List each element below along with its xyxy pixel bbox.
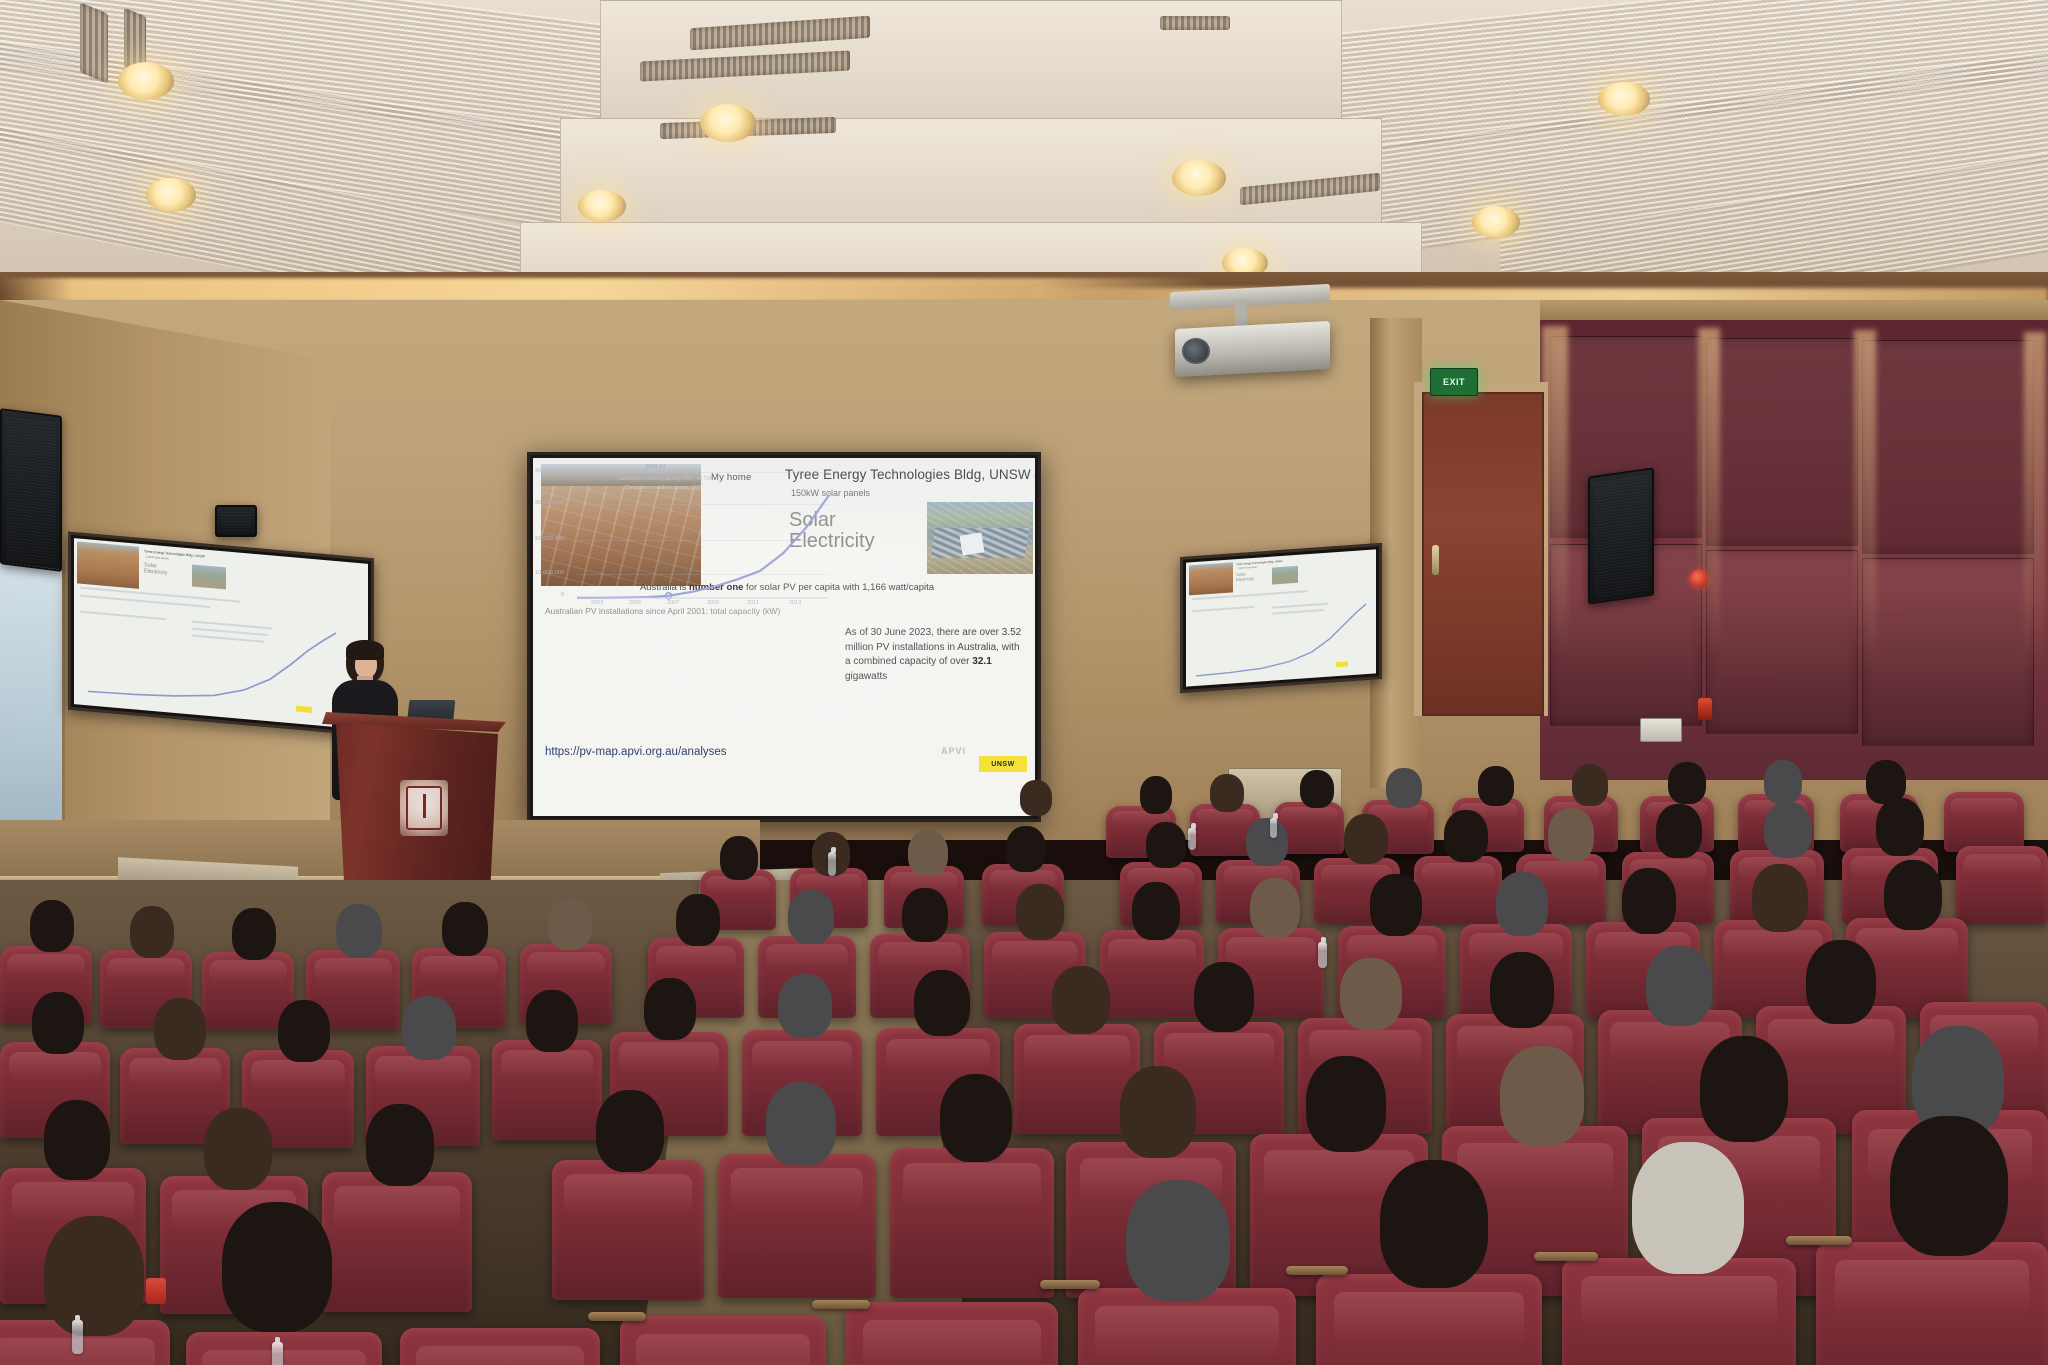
wood-panel bbox=[1862, 340, 2034, 554]
audience-person bbox=[336, 904, 382, 958]
seat[interactable] bbox=[492, 1040, 602, 1140]
seat[interactable] bbox=[552, 1160, 704, 1300]
audience-person bbox=[1016, 884, 1064, 940]
ceiling-vent bbox=[80, 2, 108, 83]
seat-armrest bbox=[1786, 1236, 1852, 1245]
seat[interactable] bbox=[1100, 930, 1204, 1018]
wall-light-glow bbox=[1854, 330, 1876, 670]
audience-person bbox=[914, 970, 970, 1036]
projector-lens-icon bbox=[1182, 338, 1210, 364]
audience-person bbox=[1700, 1036, 1788, 1142]
monitor-unsw-logo bbox=[296, 706, 312, 713]
ceiling-downlight bbox=[146, 178, 196, 212]
audience-person bbox=[32, 992, 84, 1054]
audience-person bbox=[1006, 826, 1046, 872]
apvi-logo: APVI bbox=[941, 746, 966, 756]
wall-light-glow bbox=[2024, 332, 2046, 672]
fire-alarm-light bbox=[1690, 570, 1708, 588]
water-bottle[interactable] bbox=[1188, 828, 1196, 850]
seat[interactable] bbox=[186, 1332, 382, 1365]
audience-person bbox=[1250, 878, 1300, 938]
x-tick-label: 2007 bbox=[667, 600, 679, 606]
seat[interactable] bbox=[322, 1172, 472, 1312]
exit-door[interactable] bbox=[1422, 392, 1544, 716]
audience-person bbox=[1572, 764, 1608, 806]
ceiling-downlight bbox=[1598, 82, 1650, 116]
audience-person bbox=[908, 830, 948, 876]
audience-person bbox=[1194, 962, 1254, 1032]
audience-person bbox=[1478, 766, 1514, 806]
audience-person bbox=[1806, 940, 1876, 1024]
audience-person bbox=[1884, 860, 1942, 930]
x-tick-label: 2003 bbox=[591, 600, 603, 606]
pv-installations-paragraph: As of 30 June 2023, there are over 3.52 … bbox=[845, 626, 1023, 684]
source-url[interactable]: https://pv-map.apvi.org.au/analyses bbox=[545, 746, 727, 758]
seat[interactable] bbox=[620, 1316, 826, 1365]
presenter-hair bbox=[346, 640, 384, 660]
water-bottle[interactable] bbox=[828, 852, 836, 876]
audience-person bbox=[778, 974, 832, 1038]
ceiling-camera bbox=[215, 505, 257, 537]
audience-person bbox=[44, 1100, 110, 1180]
wall-speaker-right bbox=[1588, 467, 1654, 604]
audience-person bbox=[596, 1090, 664, 1172]
audience-person bbox=[154, 998, 206, 1060]
audience-person bbox=[1496, 872, 1548, 936]
audience-person bbox=[1344, 814, 1388, 864]
audience-person bbox=[1020, 780, 1052, 816]
seat[interactable] bbox=[1944, 792, 2024, 852]
paragraph-post: gigawatts bbox=[845, 671, 887, 682]
ceiling-downlight bbox=[1472, 206, 1520, 238]
wood-panel bbox=[1706, 550, 1858, 734]
audience-person bbox=[1890, 1116, 2008, 1256]
seat[interactable] bbox=[1816, 1242, 2048, 1365]
seat[interactable] bbox=[718, 1154, 876, 1298]
audience-person bbox=[1126, 1180, 1230, 1302]
seat-armrest bbox=[1040, 1280, 1100, 1289]
seat[interactable] bbox=[1414, 856, 1502, 924]
monitor-right-slide: Tyree Energy Technologies Bldg, UNSW 150… bbox=[1186, 549, 1376, 686]
audience-person bbox=[1500, 1046, 1584, 1146]
audience-person bbox=[1632, 1142, 1744, 1274]
water-bottle[interactable] bbox=[1318, 942, 1327, 968]
exit-sign-label: EXIT bbox=[1443, 377, 1465, 387]
audience-person bbox=[940, 1074, 1012, 1162]
audience-person bbox=[1300, 770, 1334, 808]
aerial-building bbox=[960, 532, 985, 555]
audience-person bbox=[526, 990, 578, 1052]
water-bottle[interactable] bbox=[1270, 818, 1277, 838]
monitor-right-screen: Tyree Energy Technologies Bldg, UNSW 150… bbox=[1186, 549, 1376, 686]
audience-person bbox=[1132, 882, 1180, 940]
wall-switch-panel[interactable] bbox=[1640, 718, 1682, 742]
audience-person bbox=[1490, 952, 1554, 1028]
drink-cup[interactable] bbox=[146, 1278, 166, 1304]
audience-person bbox=[1764, 802, 1812, 858]
audience-person bbox=[720, 836, 758, 880]
audience-person bbox=[130, 906, 174, 958]
audience-person bbox=[1764, 760, 1802, 804]
audience-person bbox=[644, 978, 696, 1040]
paragraph-pre: As of 30 June 2023, there are over 3.52 … bbox=[845, 627, 1021, 667]
wall-speaker-left bbox=[0, 408, 62, 572]
aerial-campus-photo bbox=[927, 502, 1033, 574]
slide-title-dash: – bbox=[1031, 467, 1035, 482]
audience-person bbox=[1306, 1056, 1386, 1152]
seat-armrest bbox=[1534, 1252, 1598, 1261]
monitor-unsw-logo bbox=[1336, 661, 1348, 667]
audience-person bbox=[1146, 822, 1186, 868]
ceiling-vent bbox=[1160, 16, 1230, 30]
wall-light-glow bbox=[1698, 328, 1720, 658]
wood-panel bbox=[1706, 338, 1858, 546]
audience-person bbox=[1386, 768, 1422, 808]
water-bottle[interactable] bbox=[72, 1320, 83, 1354]
audience-person bbox=[548, 898, 592, 950]
auditorium-scene: EXIT My home Tyree Energy Technologies B… bbox=[0, 0, 2048, 1365]
seat[interactable] bbox=[400, 1328, 600, 1365]
audience-person bbox=[1876, 798, 1924, 856]
ceiling-downlight bbox=[118, 62, 174, 100]
audience-person bbox=[1668, 762, 1706, 804]
ceiling-downlight bbox=[700, 104, 756, 142]
audience-person bbox=[902, 888, 948, 942]
wood-panel bbox=[1862, 558, 2034, 746]
audience-person bbox=[1140, 776, 1172, 814]
audience-person bbox=[402, 996, 456, 1060]
paragraph-bold: 32.1 bbox=[972, 656, 991, 667]
pv-capacity-line-chart: 2009-10 Cumulative installed capacity (k… bbox=[533, 458, 833, 608]
door-handle[interactable] bbox=[1432, 545, 1439, 575]
ceiling-downlight bbox=[578, 190, 626, 222]
audience-person bbox=[1622, 868, 1676, 934]
x-tick-label: 2013 bbox=[789, 600, 801, 606]
x-tick-label: 2005 bbox=[629, 600, 641, 606]
audience-person bbox=[1246, 818, 1288, 866]
x-tick-label: 2009 bbox=[707, 600, 719, 606]
audience-person bbox=[766, 1082, 836, 1166]
audience-person bbox=[1444, 810, 1488, 862]
audience-person bbox=[232, 908, 276, 960]
audience-person bbox=[1370, 874, 1422, 936]
audience-person bbox=[222, 1202, 332, 1332]
audience-person bbox=[366, 1104, 434, 1186]
seat[interactable] bbox=[890, 1148, 1054, 1298]
audience-person bbox=[676, 894, 720, 946]
audience-person bbox=[1120, 1066, 1196, 1158]
audience-person bbox=[1380, 1160, 1488, 1288]
seat-armrest bbox=[588, 1312, 646, 1321]
audience-person bbox=[788, 890, 834, 944]
seat[interactable] bbox=[1956, 846, 2048, 924]
audience-person bbox=[442, 902, 488, 956]
audience-person bbox=[1210, 774, 1244, 812]
exit-sign: EXIT bbox=[1430, 368, 1478, 396]
audience-person bbox=[44, 1216, 144, 1336]
audience-person bbox=[204, 1108, 272, 1190]
audience-person bbox=[1052, 966, 1110, 1034]
seat-armrest bbox=[1286, 1266, 1348, 1275]
audience-person bbox=[30, 900, 74, 952]
monitor-right: Tyree Energy Technologies Bldg, UNSW 150… bbox=[1180, 543, 1382, 693]
x-tick-label: 2011 bbox=[747, 600, 759, 606]
fire-alarm-box bbox=[1698, 698, 1712, 720]
seat[interactable] bbox=[846, 1302, 1058, 1365]
audience-area bbox=[0, 760, 2048, 1365]
water-bottle[interactable] bbox=[272, 1342, 283, 1365]
audience-person bbox=[1646, 946, 1712, 1026]
chart-plot-svg bbox=[533, 458, 833, 608]
audience-person bbox=[1340, 958, 1402, 1030]
ceiling-downlight bbox=[1172, 160, 1226, 196]
seat-armrest bbox=[812, 1300, 870, 1309]
seat[interactable] bbox=[1562, 1258, 1796, 1365]
audience-person bbox=[1656, 804, 1702, 858]
audience-person bbox=[1548, 808, 1594, 862]
audience-person bbox=[278, 1000, 330, 1062]
audience-person bbox=[1752, 864, 1808, 932]
